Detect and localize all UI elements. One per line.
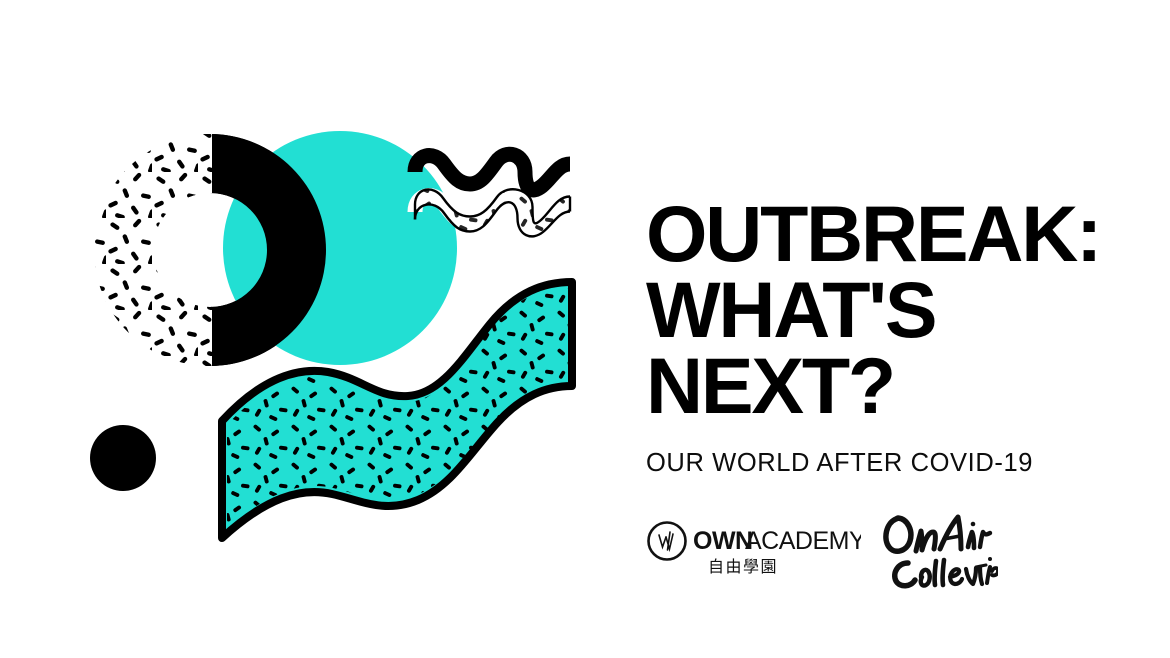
own-academy-word-light: ACADEMY [745, 527, 861, 555]
headline-block: OUTBREAK: WHAT'S NEXT? OUR WORLD AFTER C… [646, 196, 1146, 478]
dotted-ring-overlay [60, 120, 212, 382]
poster-canvas: OUTBREAK: WHAT'S NEXT? OUR WORLD AFTER C… [0, 0, 1170, 658]
own-academy-circle-monogram-icon [649, 523, 686, 560]
small-black-circle-shape [90, 425, 156, 491]
subtitle: OUR WORLD AFTER COVID-19 [646, 424, 1146, 478]
headline-line-3: NEXT? [646, 348, 1146, 424]
logo-row: OWN ACADEMY 自由學園 [646, 505, 1066, 595]
own-academy-word-bold: OWN [693, 527, 753, 555]
headline-line-1: OUTBREAK: [646, 196, 1146, 272]
own-academy-logo: OWN ACADEMY 自由學園 [646, 515, 861, 581]
on-air-collective-script-icon [886, 517, 998, 586]
own-academy-chinese: 自由學園 [708, 557, 778, 576]
abstract-geometric-composition [60, 80, 620, 590]
on-air-collective-logo [878, 505, 998, 593]
headline-line-2: WHAT'S [646, 272, 1146, 348]
